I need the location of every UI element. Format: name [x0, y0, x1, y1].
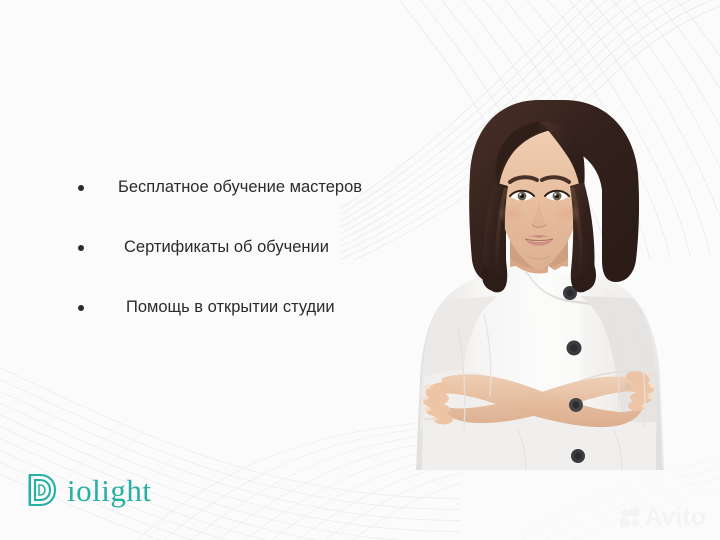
bullet-dot-icon [78, 185, 84, 191]
list-item: Сертификаты об обучении [78, 236, 438, 258]
bullet-dot-icon [78, 305, 84, 311]
benefits-list: Бесплатное обучение мастеров Сертификаты… [78, 176, 438, 318]
bullet-dot-icon [78, 245, 84, 251]
promo-slide: Бесплатное обучение мастеров Сертификаты… [0, 0, 720, 540]
diolight-d-monogram-icon [26, 472, 60, 508]
list-item-label: Бесплатное обучение мастеров [118, 176, 362, 198]
list-item-label: Сертификаты об обучении [124, 236, 329, 258]
list-item-label: Помощь в открытии студии [126, 296, 335, 318]
woman-in-white-medical-coat-photo [398, 78, 680, 478]
list-item: Помощь в открытии студии [78, 296, 438, 318]
diolight-logo[interactable]: iolight [26, 472, 151, 508]
avito-dots-icon [620, 507, 642, 529]
avito-watermark: Avito [620, 505, 706, 530]
logo-wordmark: iolight [67, 475, 151, 506]
list-item: Бесплатное обучение мастеров [78, 176, 438, 198]
avito-wordmark: Avito [644, 505, 706, 530]
